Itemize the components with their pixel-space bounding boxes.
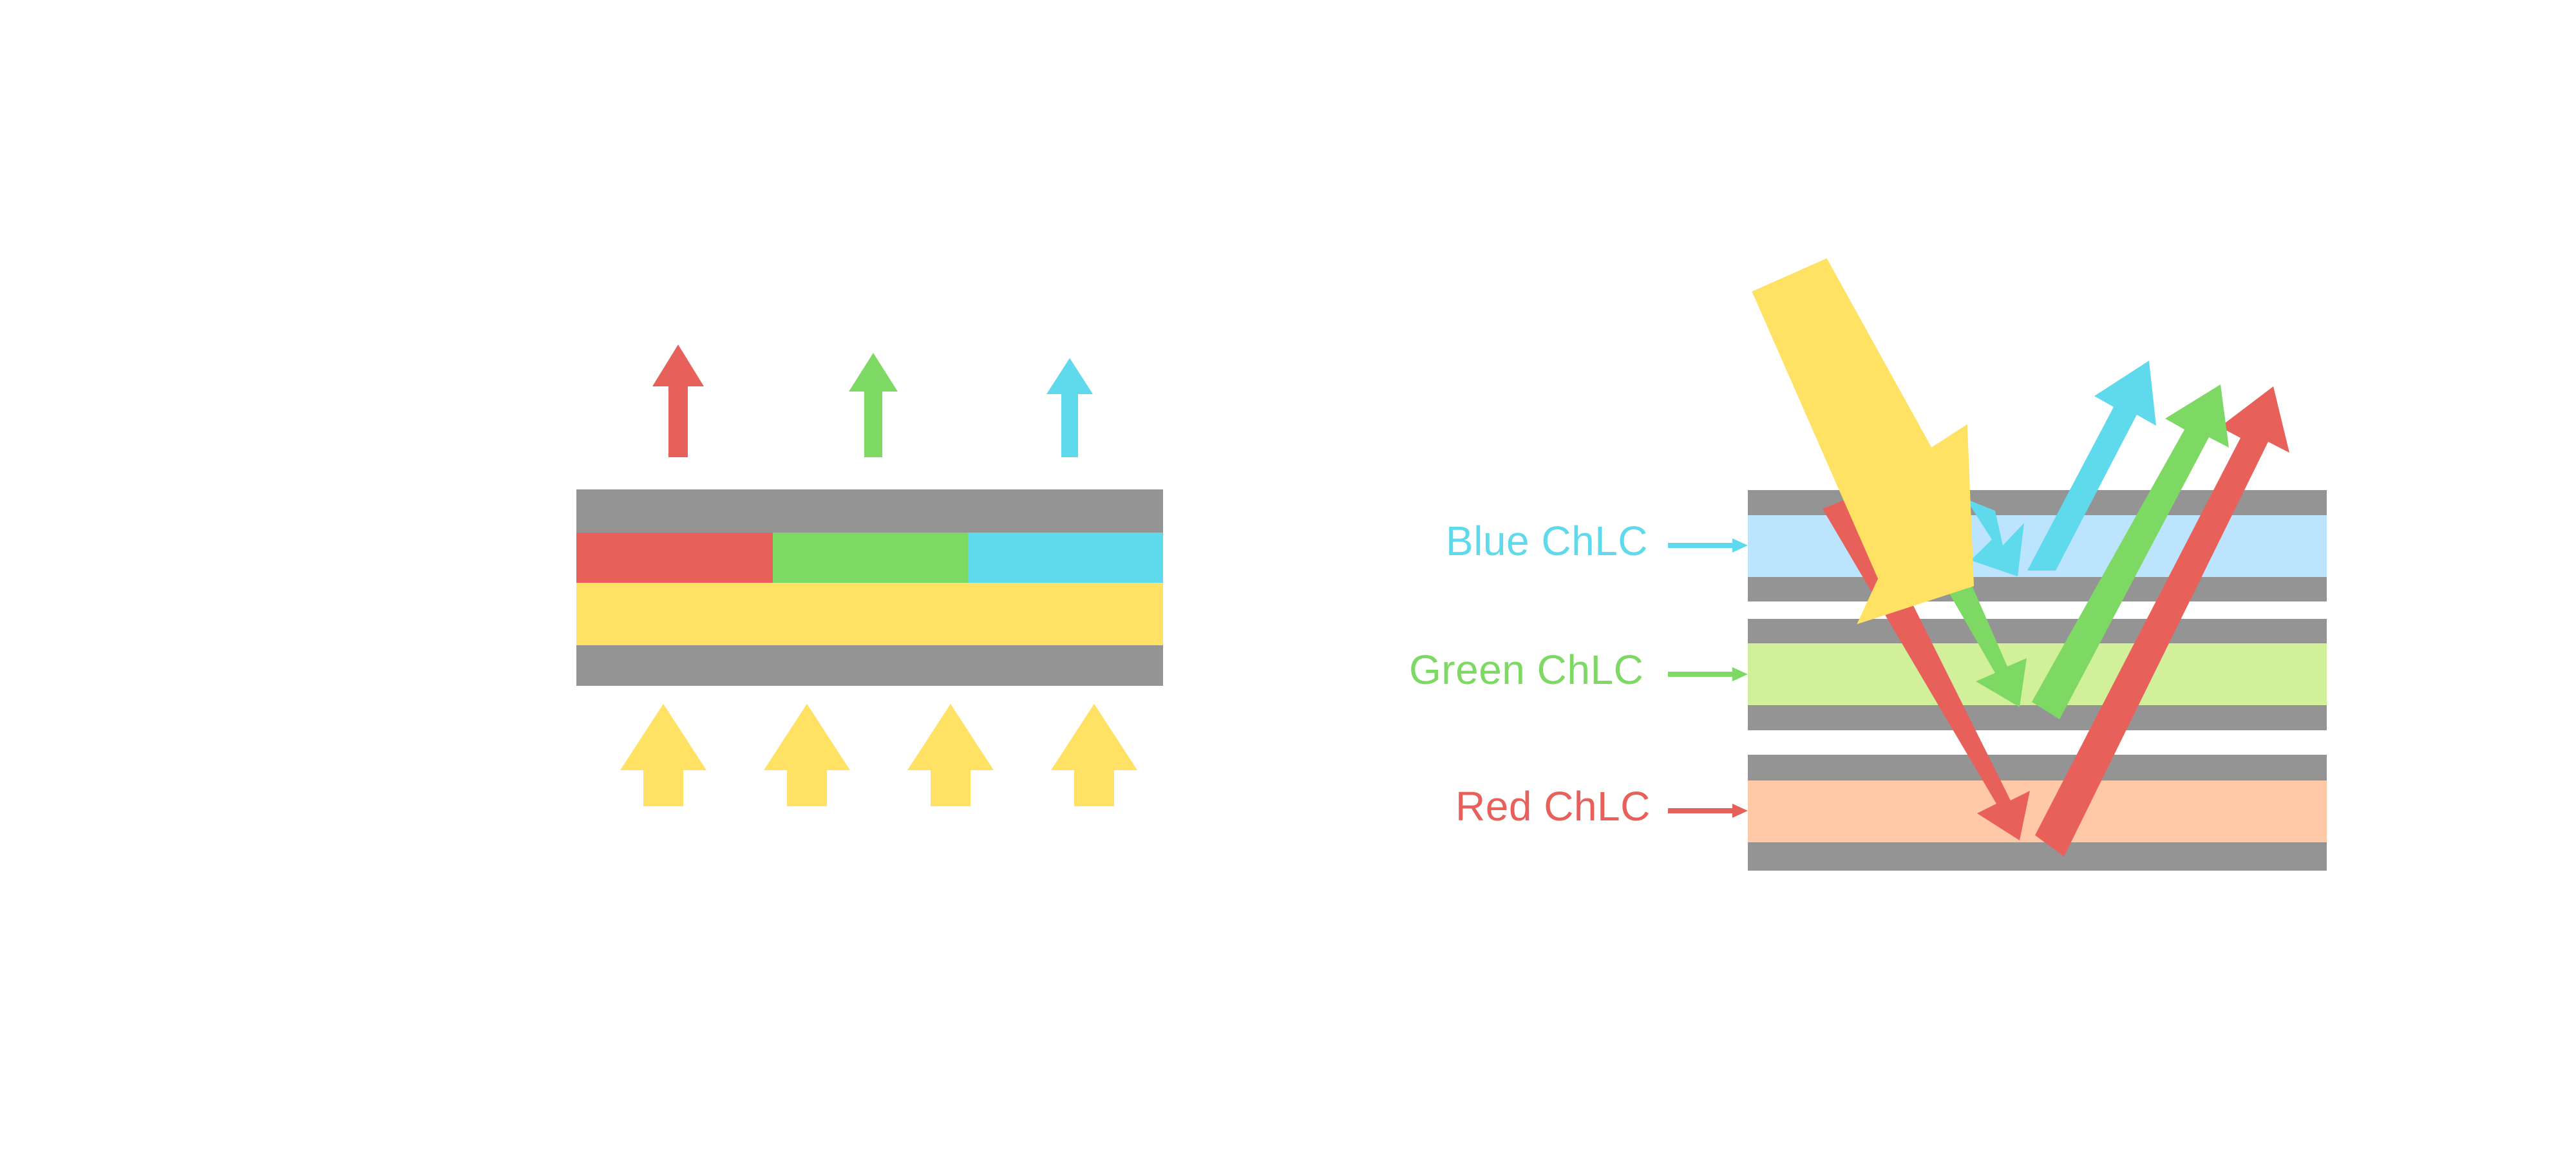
backlight-arrow-group (620, 704, 1137, 806)
red-chlc-cell (1748, 755, 2327, 871)
green-subpixel (773, 533, 968, 583)
right-panel: Blue ChLC Green ChLC Red ChLC (1352, 0, 2576, 1154)
left-panel (0, 0, 1352, 1154)
backlight-arrow (764, 704, 850, 806)
backlight-layer (576, 583, 1163, 645)
chlc-cell-stack (1748, 490, 2327, 871)
backlight-arrow (620, 704, 706, 806)
red-cell-bottom-electrode (1748, 842, 2327, 871)
red-chlc-label-text: Red ChLC (1455, 783, 1651, 829)
red-emitted-arrow (652, 345, 704, 457)
left-cell-stack (576, 489, 1163, 686)
backlight-arrow (907, 704, 994, 806)
green-emitted-arrow (849, 353, 898, 457)
red-cell-top-electrode (1748, 755, 2327, 780)
blue-chlc-label: Blue ChLC (1446, 518, 1748, 564)
red-chlc-label: Red ChLC (1455, 783, 1748, 829)
red-chlc-label-arrow (1668, 804, 1748, 818)
green-cell-top-electrode (1748, 619, 2327, 643)
green-chlc-label-text: Green ChLC (1409, 647, 1643, 693)
blue-chlc-label-arrow (1668, 538, 1748, 553)
green-cell-bottom-electrode (1748, 705, 2327, 730)
blue-emitted-arrow (1046, 358, 1093, 457)
bottom-electrode (576, 645, 1163, 686)
green-chlc-label-arrow (1668, 667, 1748, 681)
blue-chlc-label-text: Blue ChLC (1446, 518, 1648, 564)
red-subpixel (576, 533, 773, 583)
green-chlc-cell (1748, 619, 2327, 730)
color-filter (576, 533, 1163, 583)
diagram-canvas: Blue ChLC Green ChLC Red ChLC (0, 0, 2576, 1154)
backlight-arrow (1051, 704, 1137, 806)
green-chlc-label: Green ChLC (1409, 647, 1748, 693)
blue-subpixel (968, 533, 1163, 583)
top-electrode (576, 489, 1163, 533)
blue-cell-bottom-electrode (1748, 577, 2327, 601)
